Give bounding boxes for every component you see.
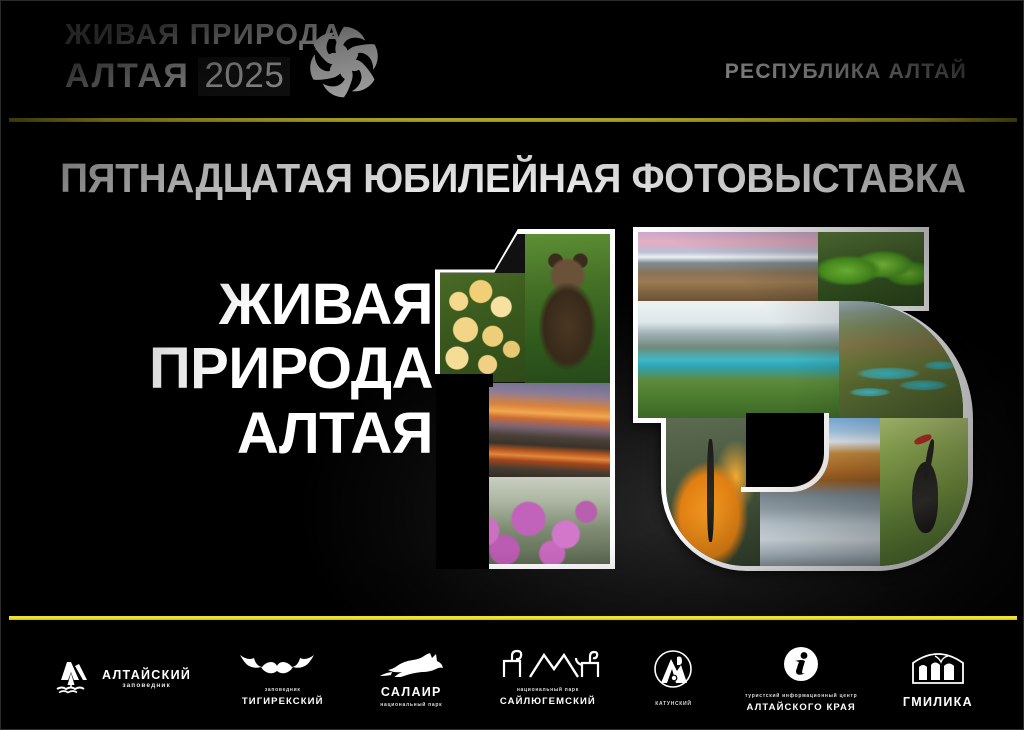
logo-title: АЛТАЙСКИЙ — [102, 668, 191, 682]
logo-subtitle: заповедник — [122, 682, 170, 689]
bat-icon — [237, 649, 329, 684]
logo-altaisky-zapovednik[interactable]: АЛТАЙСКИЙ заповедник — [53, 656, 191, 701]
region-label: РЕСПУБЛИКА АЛТАЙ — [725, 60, 967, 84]
page-title: ЖИВАЯ ПРИРОДА АЛТАЯ — [43, 273, 433, 466]
river-meander-overlay — [839, 301, 963, 418]
logo-title: ТИГИРЕКСКИЙ — [242, 696, 324, 707]
petroglyph-animals-icon — [494, 649, 602, 684]
logo-subtitle: заповедник — [265, 687, 301, 693]
logo-tigireksky-zapovednik[interactable]: заповедник ТИГИРЕКСКИЙ — [237, 649, 329, 707]
meandering-river-photo — [839, 301, 963, 418]
mountain-tree-icon — [53, 656, 93, 701]
poster-header: ЖИВАЯ ПРИРОДА АЛТАЯ 2025 РЕ — [1, 1, 1024, 119]
lynx-icon — [374, 649, 448, 682]
logo-gmilika-museum[interactable]: ГМИЛИКА — [903, 647, 973, 709]
logo-title: САЛАИР — [381, 685, 442, 699]
digit-five-shape — [633, 227, 973, 571]
fern-photo — [818, 232, 924, 306]
logo-title: САЙЛЮГЕМСКИЙ — [500, 696, 596, 707]
beetle-body — [707, 439, 714, 543]
digit-one-shape — [435, 229, 615, 569]
brand-altaya: АЛТАЯ — [65, 59, 189, 93]
info-i-icon — [780, 643, 822, 690]
logo-title: АЛТАЙСКОГО КРАЯ — [747, 702, 856, 713]
logo-subtitle: национальный парк — [517, 687, 579, 693]
numeral-photo-collage — [421, 219, 991, 577]
logo-subtitle: национальный парк — [380, 702, 442, 708]
museum-arch-icon — [909, 647, 967, 692]
logo-title: ГМИЛИКА — [903, 695, 973, 709]
digit-five-counter-outline — [741, 413, 829, 492]
logo-subtitle: туристский информационный центр — [745, 693, 857, 699]
poster-root: ЖИВАЯ ПРИРОДА АЛТАЯ 2025 РЕ — [0, 0, 1024, 730]
digit-one-notch — [435, 384, 489, 569]
turquoise-lake-photo-right — [746, 301, 839, 418]
brand-year: 2025 — [198, 57, 290, 96]
divider-bottom — [9, 616, 1017, 620]
page-title-line-1: ЖИВАЯ — [43, 273, 433, 337]
logo-salair-park[interactable]: САЛАИР национальный парк — [374, 649, 448, 708]
page-title-line-2: ПРИРОДА — [43, 337, 433, 401]
turquoise-lake-photo — [638, 301, 746, 418]
black-stork-photo — [880, 418, 968, 566]
logo-katunsky-zapovednik[interactable]: КАТУНСКИЙ — [647, 649, 699, 707]
logo-sailyugemsky-park[interactable]: национальный парк САЙЛЮГЕМСКИЙ — [494, 649, 602, 707]
brown-bear-photo — [525, 234, 610, 383]
divider-top — [9, 118, 1017, 122]
logo-tourist-info-center[interactable]: туристский информационный центр АЛТАЙСКО… — [745, 643, 857, 713]
digit-five-top-photos — [638, 232, 924, 306]
altai-ornament-circle-icon — [303, 21, 385, 103]
page-title-line-3: АЛТАЯ — [43, 402, 433, 466]
logo-title: КАТУНСКИЙ — [655, 701, 691, 707]
mountain-larch-photo — [638, 232, 818, 306]
digit-five-bowl-top-photos — [746, 301, 963, 418]
headline: ПЯТНАДЦАТАЯ ЮБИЛЕЙНАЯ ФОТОВЫСТАВКА — [29, 155, 997, 202]
digit-five-stem-photos — [638, 301, 746, 418]
partner-logos-bar: АЛТАЙСКИЙ заповедник заповедник ТИГИРЕКС… — [1, 625, 1024, 730]
golden-berries-photo — [440, 273, 525, 383]
katun-peak-circle-icon — [647, 649, 699, 698]
